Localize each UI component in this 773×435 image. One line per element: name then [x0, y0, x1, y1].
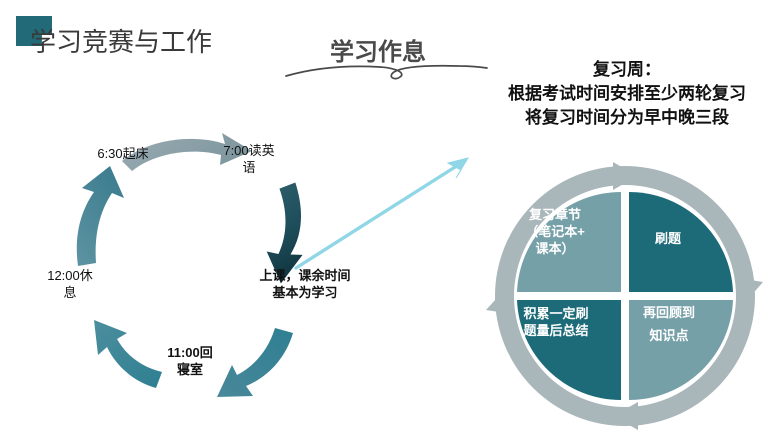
hand-drawn-squiggle-underline-icon — [284, 56, 490, 82]
wheel-label-top-left: 复习章节 （笔记本+ 课本） — [507, 206, 603, 257]
cycle-label-wake: 6:30起床 — [78, 146, 168, 163]
page-title: 学习竞赛与工作 — [30, 22, 212, 59]
note-line-2: 根据考试时间安排至少两轮复习 — [482, 82, 772, 106]
cycle-arrow-bottom-right — [217, 328, 293, 397]
note-line-1: 复习周： — [482, 58, 772, 82]
cycle-label-dorm: 11:00回 寝室 — [152, 345, 228, 378]
review-cycle-wheel-diagram — [480, 160, 770, 432]
cycle-arrow-left — [77, 166, 124, 266]
wheel-label-bottom-left: 积累一定刷 题量后总结 — [504, 305, 608, 339]
cycle-label-english: 7:00读英 语 — [216, 143, 282, 176]
cycle-label-rest: 12:00休 息 — [30, 268, 110, 301]
review-week-note: 复习周： 根据考试时间安排至少两轮复习 将复习时间分为早中晚三段 — [482, 58, 772, 130]
slide-canvas: 学习竞赛与工作 学习作息 复习周： 根据考试时间安排至少两轮复习 将复习时间分为… — [0, 0, 773, 435]
diagonal-arrow-up-right-icon — [290, 150, 480, 275]
wheel-label-bottom-right: 再回顾到 知识点 — [622, 302, 716, 348]
note-line-3: 将复习时间分为早中晚三段 — [482, 106, 772, 130]
circular-arrow-ring-icon — [486, 162, 763, 430]
wheel-label-top-right: 刷题 — [625, 230, 711, 247]
